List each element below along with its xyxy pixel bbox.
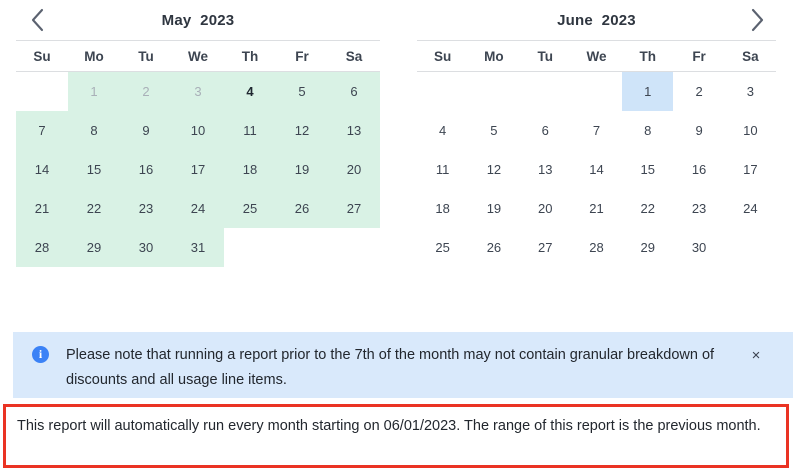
day-cell[interactable]: 28 [16, 228, 68, 267]
day-cell[interactable]: 21 [571, 189, 622, 228]
day-cell[interactable]: 3 [172, 72, 224, 111]
weekday-sa: Sa [328, 41, 380, 71]
day-cell[interactable]: 18 [224, 150, 276, 189]
day-cell[interactable]: 2 [673, 72, 724, 111]
info-banner: i Please note that running a report prio… [13, 332, 793, 398]
day-cell[interactable]: 24 [172, 189, 224, 228]
day-cell[interactable]: 5 [468, 111, 519, 150]
day-cell[interactable]: 26 [468, 228, 519, 267]
day-cell-empty [520, 72, 571, 111]
weekday-mo: Mo [468, 41, 519, 71]
weekday-tu: Tu [520, 41, 571, 71]
weekday-fr: Fr [276, 41, 328, 71]
month-panel-next: June 2023 Su Mo Tu We Th Fr Sa 123456789… [396, 0, 792, 320]
day-cell[interactable]: 21 [16, 189, 68, 228]
info-circle-icon: i [32, 346, 49, 363]
day-cell[interactable]: 1 [622, 72, 673, 111]
weekday-sa: Sa [725, 41, 776, 71]
day-cell[interactable]: 10 [725, 111, 776, 150]
day-cell[interactable]: 6 [520, 111, 571, 150]
day-cell[interactable]: 4 [224, 72, 276, 111]
day-cell[interactable]: 25 [417, 228, 468, 267]
weekday-mo: Mo [68, 41, 120, 71]
month-header-next: June 2023 [417, 0, 776, 40]
day-cell[interactable]: 16 [120, 150, 172, 189]
day-cell[interactable]: 12 [468, 150, 519, 189]
day-cell[interactable]: 29 [622, 228, 673, 267]
day-cell[interactable]: 10 [172, 111, 224, 150]
chevron-left-icon[interactable] [22, 5, 52, 35]
date-range-picker[interactable]: May 2023 Su Mo Tu We Th Fr Sa 1234567891… [0, 0, 793, 320]
day-cell[interactable]: 8 [68, 111, 120, 150]
day-cell[interactable]: 22 [622, 189, 673, 228]
day-cell[interactable]: 23 [673, 189, 724, 228]
weekday-header-next: Su Mo Tu We Th Fr Sa [417, 40, 776, 72]
chevron-right-icon[interactable] [742, 5, 772, 35]
month-title-previous: May 2023 [162, 12, 235, 29]
day-cell[interactable]: 18 [417, 189, 468, 228]
day-cell[interactable]: 9 [673, 111, 724, 150]
day-cell[interactable]: 27 [520, 228, 571, 267]
weekday-fr: Fr [673, 41, 724, 71]
day-cell[interactable]: 20 [328, 150, 380, 189]
day-cell[interactable]: 30 [120, 228, 172, 267]
day-cell[interactable]: 7 [571, 111, 622, 150]
weekday-th: Th [224, 41, 276, 71]
day-cell[interactable]: 9 [120, 111, 172, 150]
day-cell[interactable]: 13 [520, 150, 571, 189]
day-cell[interactable]: 20 [520, 189, 571, 228]
day-cell[interactable]: 15 [68, 150, 120, 189]
day-cell[interactable]: 6 [328, 72, 380, 111]
day-cell[interactable]: 19 [276, 150, 328, 189]
day-cell[interactable]: 7 [16, 111, 68, 150]
weekday-header-previous: Su Mo Tu We Th Fr Sa [16, 40, 380, 72]
info-banner-message: Please note that running a report prior … [66, 343, 726, 393]
day-cell[interactable]: 30 [673, 228, 724, 267]
day-cell[interactable]: 26 [276, 189, 328, 228]
day-cell[interactable]: 1 [68, 72, 120, 111]
day-cell[interactable]: 25 [224, 189, 276, 228]
day-cell[interactable]: 27 [328, 189, 380, 228]
days-grid-previous: 1234567891011121314151617181920212223242… [16, 72, 380, 267]
weekday-tu: Tu [120, 41, 172, 71]
day-cell[interactable]: 5 [276, 72, 328, 111]
day-cell-empty [16, 72, 68, 111]
day-cell[interactable]: 12 [276, 111, 328, 150]
day-cell-empty [571, 72, 622, 111]
day-cell[interactable]: 17 [172, 150, 224, 189]
schedule-note-text: This report will automatically run every… [17, 414, 774, 439]
day-cell[interactable]: 11 [417, 150, 468, 189]
day-cell[interactable]: 16 [673, 150, 724, 189]
day-cell[interactable]: 24 [725, 189, 776, 228]
month-panel-previous: May 2023 Su Mo Tu We Th Fr Sa 1234567891… [0, 0, 396, 320]
month-title-next: June 2023 [557, 12, 636, 29]
day-cell[interactable]: 4 [417, 111, 468, 150]
weekday-th: Th [622, 41, 673, 71]
weekday-we: We [571, 41, 622, 71]
day-cell[interactable]: 2 [120, 72, 172, 111]
weekday-su: Su [16, 41, 68, 71]
day-cell[interactable]: 11 [224, 111, 276, 150]
weekday-su: Su [417, 41, 468, 71]
day-cell[interactable]: 29 [68, 228, 120, 267]
day-cell-empty [468, 72, 519, 111]
day-cell[interactable]: 14 [571, 150, 622, 189]
schedule-note-box: This report will automatically run every… [3, 404, 789, 468]
day-cell[interactable]: 8 [622, 111, 673, 150]
weekday-we: We [172, 41, 224, 71]
day-cell[interactable]: 13 [328, 111, 380, 150]
day-cell[interactable]: 17 [725, 150, 776, 189]
day-cell[interactable]: 22 [68, 189, 120, 228]
day-cell[interactable]: 3 [725, 72, 776, 111]
day-cell[interactable]: 19 [468, 189, 519, 228]
day-cell-empty [417, 72, 468, 111]
day-cell[interactable]: 14 [16, 150, 68, 189]
close-icon[interactable]: × [747, 346, 765, 364]
day-cell[interactable]: 15 [622, 150, 673, 189]
day-cell[interactable]: 23 [120, 189, 172, 228]
day-cell[interactable]: 31 [172, 228, 224, 267]
days-grid-next: 1234567891011121314151617181920212223242… [417, 72, 776, 267]
month-header-previous: May 2023 [16, 0, 380, 40]
day-cell[interactable]: 28 [571, 228, 622, 267]
